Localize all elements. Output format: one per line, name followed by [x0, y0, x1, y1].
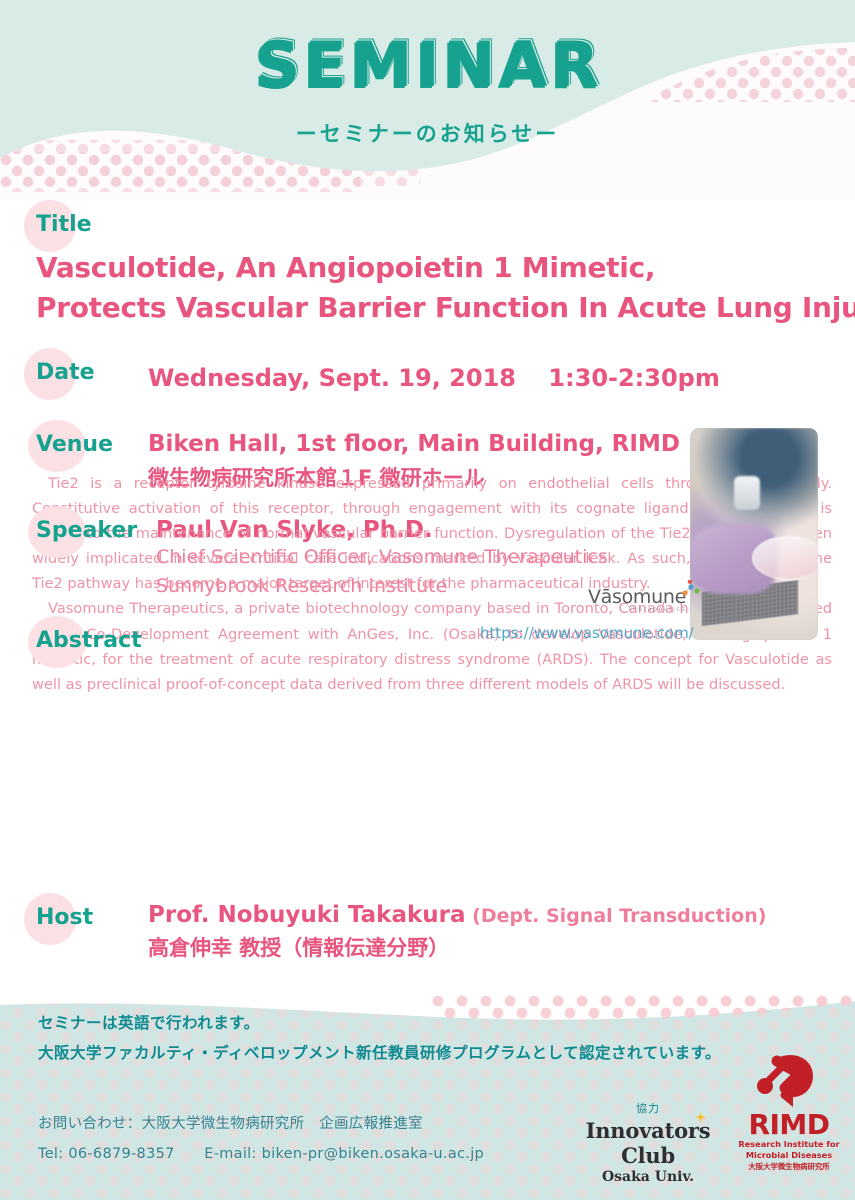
laboratory-photo	[690, 428, 818, 640]
host-value: Prof. Nobuyuki Takakura (Dept. Signal Tr…	[148, 902, 766, 962]
host-label: Host	[36, 905, 93, 930]
rimd-mark-icon	[753, 1052, 825, 1110]
host-label-text: Host	[36, 905, 93, 930]
seminar-poster: SEMINAR ーセミナーのお知らせー Title Vasculotide, A…	[0, 0, 855, 1200]
date-text: Wednesday, Sept. 19, 2018 1:30-2:30pm	[148, 358, 720, 393]
title-line-2: Protects Vascular Barrier Function In Ac…	[36, 288, 855, 328]
footer-notes: セミナーは英語で行われます。 大阪大学ファカルティ・ディベロップメント新任教員研…	[38, 1008, 818, 1068]
rimd-subtitle-1: Research Institute for	[735, 1139, 843, 1150]
venue-label-text: Venue	[36, 432, 113, 457]
title-label: Title	[36, 212, 92, 237]
rimd-subtitle-japanese: 大阪大学微生物病研究所	[735, 1161, 843, 1172]
collab-name: Innovators Club ✦	[568, 1118, 728, 1168]
host-label-wrap: Host	[36, 905, 93, 930]
rimd-wordmark: RIMD	[735, 1111, 843, 1139]
speaker-label-text: Speaker	[36, 518, 137, 543]
host-japanese: 高倉伸幸 教授（情報伝達分野）	[148, 932, 766, 962]
vasomune-logo: Vāsomune Therapeutics	[566, 586, 686, 613]
rimd-logo: RIMD Research Institute for Microbial Di…	[735, 1052, 843, 1172]
rimd-subtitle-2: Microbial Diseases	[735, 1150, 843, 1161]
seminar-title: SEMINAR	[254, 36, 601, 98]
title-label-wrap: Title	[36, 212, 92, 237]
host-name-text: Prof. Nobuyuki Takakura	[148, 902, 466, 928]
seminar-title-block: SEMINAR	[0, 36, 855, 98]
photo-tube	[734, 476, 760, 510]
venue-label: Venue	[36, 432, 113, 457]
vasomune-url[interactable]: https://www.vasomune.com/	[480, 624, 686, 642]
innovators-club-logo: 協力 Innovators Club ✦ Osaka Univ.	[568, 1100, 728, 1185]
speaker-label-wrap: Speaker	[36, 518, 137, 543]
host-dept-text: (Dept. Signal Transduction)	[466, 905, 767, 927]
seminar-title-text: Vasculotide, An Angiopoietin 1 Mimetic, …	[36, 248, 855, 328]
host-name: Prof. Nobuyuki Takakura (Dept. Signal Tr…	[148, 902, 766, 928]
photo-petri-dish	[752, 536, 818, 580]
abstract-label: Abstract	[36, 628, 142, 653]
date-label: Date	[36, 360, 95, 385]
seminar-subtitle: ーセミナーのお知らせー	[0, 118, 855, 148]
footer-note-line-1: セミナーは英語で行われます。	[38, 1008, 818, 1038]
contact-line-2: Tel: 06-6879-8357 E-mail: biken-pr@biken…	[38, 1140, 484, 1170]
venue-english: Biken Hall, 1st floor, Main Building, RI…	[148, 431, 680, 457]
footer-note-line-2: 大阪大学ファカルティ・ディベロップメント新任教員研修プログラムとして認定されてい…	[38, 1038, 818, 1068]
date-label-text: Date	[36, 360, 95, 385]
date-label-wrap: Date	[36, 360, 95, 385]
title-line-1: Vasculotide, An Angiopoietin 1 Mimetic,	[36, 248, 855, 288]
abstract-label-text: Abstract	[36, 628, 142, 653]
collab-name-text: Innovators Club	[586, 1118, 711, 1168]
contact-info: お問い合わせ：大阪大学微生物病研究所 企画広報推進室 Tel: 06-6879-…	[38, 1110, 484, 1169]
contact-line-1: お問い合わせ：大阪大学微生物病研究所 企画広報推進室	[38, 1110, 484, 1140]
sparkle-icon: ✦	[695, 1111, 706, 1126]
speaker-label: Speaker	[36, 518, 137, 543]
title-label-text: Title	[36, 212, 92, 237]
molecule-icon	[676, 580, 702, 604]
venue-label-wrap: Venue	[36, 432, 113, 457]
poster-header: SEMINAR ーセミナーのお知らせー	[0, 0, 855, 200]
date-value: Wednesday, Sept. 19, 2018 1:30-2:30pm	[148, 358, 720, 393]
abstract-label-wrap: Abstract	[36, 628, 142, 653]
collab-sub: Osaka Univ.	[568, 1169, 728, 1185]
vasomune-wordmark: Vāsomune	[588, 586, 686, 608]
